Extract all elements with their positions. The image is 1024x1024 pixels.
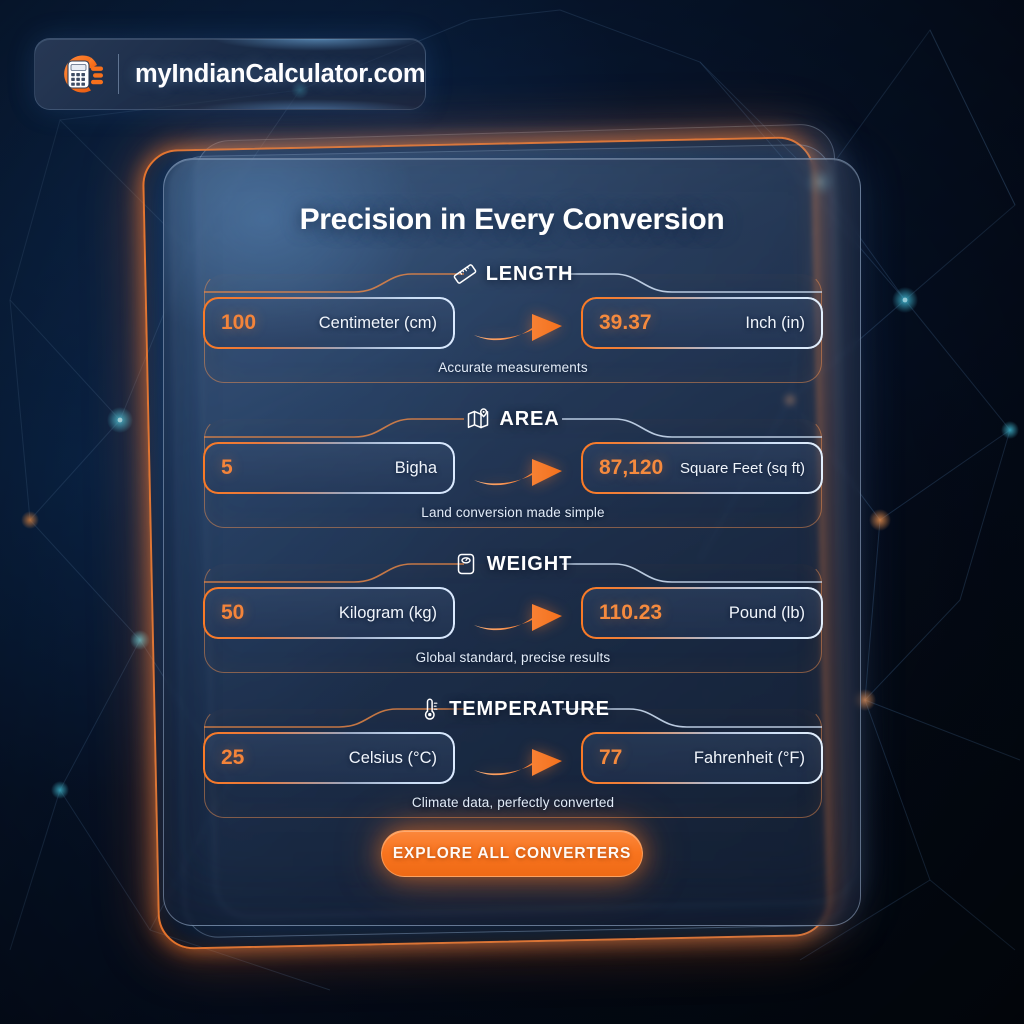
row-body: 5 Bigha 87,120 Square Feet (sq ft) [204, 440, 822, 496]
from-value: 100 [221, 311, 256, 335]
row-body: 50 Kilogram (kg) 110.23 Pound (lb) [204, 585, 822, 641]
from-field-area[interactable]: 5 Bigha [204, 443, 454, 493]
conversion-row-weight: WEIGHT 50 Kilogram (kg) 110.23 Pound ( [204, 549, 822, 673]
curved-arrow-icon [470, 732, 566, 784]
from-unit: Kilogram (kg) [339, 604, 437, 623]
row-label-length: LENGTH [204, 259, 822, 289]
row-note: Global standard, precise results [204, 650, 822, 665]
to-field-weight[interactable]: 110.23 Pound (lb) [582, 588, 822, 638]
conversion-arrow-wrap [454, 443, 582, 493]
to-field-area[interactable]: 87,120 Square Feet (sq ft) [582, 443, 822, 493]
to-field-length[interactable]: 39.37 Inch (in) [582, 298, 822, 348]
row-label-area: AREA [204, 404, 822, 434]
to-unit: Pound (lb) [729, 604, 805, 623]
curved-arrow-icon [470, 297, 566, 349]
to-value: 77 [599, 746, 622, 770]
row-note: Accurate measurements [204, 360, 822, 375]
from-value: 5 [221, 456, 233, 480]
row-body: 25 Celsius (°C) 77 Fahrenheit (°F) [204, 730, 822, 786]
row-note: Land conversion made simple [204, 505, 822, 520]
from-field-weight[interactable]: 50 Kilogram (kg) [204, 588, 454, 638]
from-value: 25 [221, 746, 244, 770]
to-value: 87,120 [599, 456, 663, 480]
to-field-temperature[interactable]: 77 Fahrenheit (°F) [582, 733, 822, 783]
row-label-temperature: TEMPERATURE [204, 694, 822, 724]
row-label-text: WEIGHT [487, 553, 572, 576]
conversion-arrow-wrap [454, 588, 582, 638]
thermometer-icon [416, 697, 440, 721]
cta-label: EXPLORE ALL CONVERTERS [393, 845, 631, 863]
page-title: Precision in Every Conversion [164, 203, 860, 237]
row-label-text: AREA [499, 408, 559, 431]
conversion-arrow-wrap [454, 733, 582, 783]
to-value: 39.37 [599, 311, 652, 335]
from-unit: Bigha [395, 459, 437, 478]
map-pin-icon [466, 407, 490, 431]
to-value: 110.23 [599, 601, 662, 625]
row-label-text: TEMPERATURE [449, 698, 610, 721]
conversion-row-temperature: TEMPERATURE 25 Celsius (°C) 77 Fahrenh [204, 694, 822, 818]
explore-all-converters-button[interactable]: EXPLORE ALL CONVERTERS [381, 830, 643, 877]
from-field-temperature[interactable]: 25 Celsius (°C) [204, 733, 454, 783]
from-unit: Celsius (°C) [349, 749, 437, 768]
card-stack: Precision in Every Conversion [0, 0, 1024, 1024]
conversion-rows: LENGTH 100 Centimeter (cm) 39.37 [204, 259, 822, 839]
curved-arrow-icon [470, 442, 566, 494]
from-unit: Centimeter (cm) [319, 314, 437, 333]
row-label-text: LENGTH [486, 263, 574, 286]
weighing-scale-icon [454, 552, 478, 576]
to-unit: Inch (in) [745, 314, 805, 333]
row-note: Climate data, perfectly converted [204, 795, 822, 810]
conversion-arrow-wrap [454, 298, 582, 348]
row-body: 100 Centimeter (cm) 39.37 Inch (in) [204, 295, 822, 351]
to-unit: Square Feet (sq ft) [680, 460, 805, 477]
to-unit: Fahrenheit (°F) [694, 749, 805, 768]
from-field-length[interactable]: 100 Centimeter (cm) [204, 298, 454, 348]
conversion-row-area: AREA 5 Bigha 87,120 Square Feet (sq ft [204, 404, 822, 528]
row-label-weight: WEIGHT [204, 549, 822, 579]
curved-arrow-icon [470, 587, 566, 639]
ruler-icon [453, 262, 477, 286]
conversion-row-length: LENGTH 100 Centimeter (cm) 39.37 [204, 259, 822, 383]
from-value: 50 [221, 601, 244, 625]
main-panel: Precision in Every Conversion [163, 158, 861, 926]
